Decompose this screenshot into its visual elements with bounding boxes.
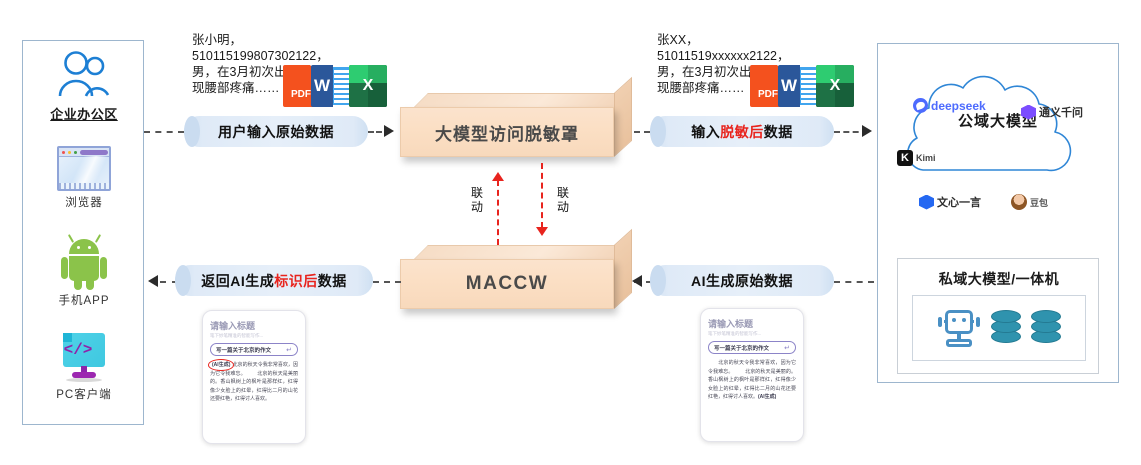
database-icon xyxy=(991,310,1021,346)
mask-box[interactable]: 大模型访问脱敏罩 xyxy=(400,93,632,157)
mockup-prompt-input[interactable]: 写一篇关于北京的作文 ↵ xyxy=(210,343,298,356)
linkage-arrow-down xyxy=(536,227,548,236)
ai-generated-tag: (AI生成) xyxy=(758,394,776,400)
ai-generated-tag: (AI生成) xyxy=(210,362,232,368)
private-model-title: 私域大模型/一体机 xyxy=(898,269,1100,289)
connector-office-to-input xyxy=(144,131,184,133)
ui-mockup-raw: 请输入标题 笔下妙笔精准的智能写作... 写一篇关于北京的作文 ↵ 北京的秋天令… xyxy=(700,308,804,442)
linkage-line-down xyxy=(541,163,543,228)
device-mobile-app-label: 手机APP xyxy=(23,292,145,308)
kimi-logo-icon: K xyxy=(897,150,913,166)
android-icon xyxy=(61,239,107,289)
linkage-arrow-up xyxy=(492,172,504,181)
model-item-doubao[interactable]: 豆包 xyxy=(1011,194,1048,210)
maccw-box-label: MACCW xyxy=(466,273,548,295)
mockup-prompt-input[interactable]: 写一篇关于北京的作文 ↵ xyxy=(708,341,796,354)
sample-text-masked: 张XX，51011519xxxxxx2122，男，在3月初次出现腰部疼痛…… xyxy=(657,32,752,96)
arrow-into-mask xyxy=(384,125,394,137)
wenxin-logo-icon xyxy=(919,195,934,210)
linkage-label-left: 联动 xyxy=(470,186,484,214)
enter-icon: ↵ xyxy=(784,344,790,352)
flow-banner-return-marked-label: 返回AI生成标识后数据 xyxy=(201,271,347,291)
excel-file-icon: X xyxy=(349,65,387,107)
flow-banner-ai-raw-label: AI生成原始数据 xyxy=(691,271,793,291)
model-item-doubao-label: 豆包 xyxy=(1030,196,1048,209)
mask-box-top xyxy=(414,93,632,107)
mockup-body: (AI生成)北京的秋天令我非常喜欢，因为它令我难忘。 北京的秋天是美丽的。香山枫… xyxy=(210,361,298,404)
maccw-box-side xyxy=(614,229,632,309)
mockup-title: 请输入标题 xyxy=(708,317,796,330)
model-item-deepseek[interactable]: deepseek xyxy=(913,98,986,113)
maccw-box-top xyxy=(414,245,632,259)
arrow-into-model-panel xyxy=(862,125,872,137)
sample-text-raw: 张小明，510115199807302122，男，在3月初次出现腰部疼痛…… xyxy=(192,32,292,96)
model-item-wenxin-label: 文心一言 xyxy=(937,194,981,210)
robot-icon xyxy=(937,307,981,349)
private-model-box: 私域大模型/一体机 xyxy=(897,258,1099,374)
mockup-subtitle: 笔下妙笔精准的智能写作... xyxy=(708,331,796,337)
browser-icon xyxy=(57,146,111,191)
arrow-into-office xyxy=(148,275,158,287)
mask-box-face: 大模型访问脱敏罩 xyxy=(400,107,614,157)
model-item-qwen[interactable]: 通义千问 xyxy=(1021,104,1083,120)
public-model-cloud: 公域大模型 deepseek 通义千问 K Kimi 文心一言 豆包 xyxy=(883,52,1113,192)
device-browser[interactable]: 浏览器 xyxy=(23,146,145,210)
flow-banner-ai-raw[interactable]: AI生成原始数据 xyxy=(650,265,834,296)
mask-box-label: 大模型访问脱敏罩 xyxy=(435,120,579,145)
doubao-logo-icon xyxy=(1011,194,1027,210)
maccw-box[interactable]: MACCW xyxy=(400,245,632,309)
mask-box-side xyxy=(614,77,632,157)
flow-banner-return-marked[interactable]: 返回AI生成标识后数据 xyxy=(175,265,373,296)
device-pc-client-label: PC客户端 xyxy=(23,386,145,402)
model-item-kimi-label: Kimi xyxy=(916,153,936,163)
connector-maccw-to-return xyxy=(373,281,401,283)
device-browser-label: 浏览器 xyxy=(23,194,145,210)
connector-panel-to-airaw xyxy=(834,281,874,283)
enterprise-office-panel: 企业办公区 浏览器 手机APP </> PC客户端 xyxy=(22,40,144,425)
mockup-body: 北京的秋天令我非常喜欢，因为它令我难忘。 北京的秋天是美丽的。香山枫树上的枫叶是… xyxy=(708,359,796,402)
linkage-line-up xyxy=(497,180,499,245)
connector-mask-to-masked xyxy=(634,131,650,133)
flow-banner-input-masked[interactable]: 输入脱敏后数据 xyxy=(650,116,834,147)
excel-file-icon: X xyxy=(816,65,854,107)
diagram-canvas: 企业办公区 浏览器 手机APP </> PC客户端 xyxy=(0,0,1141,465)
arrow-into-maccw xyxy=(632,275,642,287)
mockup-prompt-value: 写一篇关于北京的作文 xyxy=(714,344,784,352)
enter-icon: ↵ xyxy=(286,346,292,354)
private-model-icons xyxy=(912,295,1086,361)
database-icon xyxy=(1031,310,1061,346)
file-icons-raw: PDF W X xyxy=(283,65,387,109)
flow-banner-input-raw[interactable]: 用户输入原始数据 xyxy=(184,116,368,147)
people-icon xyxy=(23,51,145,97)
device-mobile-app[interactable]: 手机APP xyxy=(23,239,145,308)
deepseek-logo-icon xyxy=(913,98,928,113)
device-pc-client[interactable]: </> PC客户端 xyxy=(23,333,145,402)
model-item-deepseek-label: deepseek xyxy=(931,99,986,113)
qwen-logo-icon xyxy=(1021,105,1036,120)
mockup-title: 请输入标题 xyxy=(210,319,298,332)
file-icons-masked: PDF W X xyxy=(750,65,854,109)
enterprise-panel-title: 企业办公区 xyxy=(23,104,145,123)
linkage-label-right: 联动 xyxy=(556,186,570,214)
ui-mockup-marked: 请输入标题 笔下妙笔精准的智能写作... 写一篇关于北京的作文 ↵ (AI生成)… xyxy=(202,310,306,444)
pc-client-icon: </> xyxy=(57,333,111,383)
model-item-wenxin[interactable]: 文心一言 xyxy=(919,194,981,210)
maccw-box-face: MACCW xyxy=(400,259,614,309)
model-item-kimi[interactable]: K Kimi xyxy=(897,150,936,166)
mockup-prompt-value: 写一篇关于北京的作文 xyxy=(216,346,286,354)
flow-banner-input-raw-label: 用户输入原始数据 xyxy=(218,122,334,142)
mockup-subtitle: 笔下妙笔精准的智能写作... xyxy=(210,333,298,339)
model-item-qwen-label: 通义千问 xyxy=(1039,104,1083,120)
flow-banner-input-masked-label: 输入脱敏后数据 xyxy=(691,122,793,142)
